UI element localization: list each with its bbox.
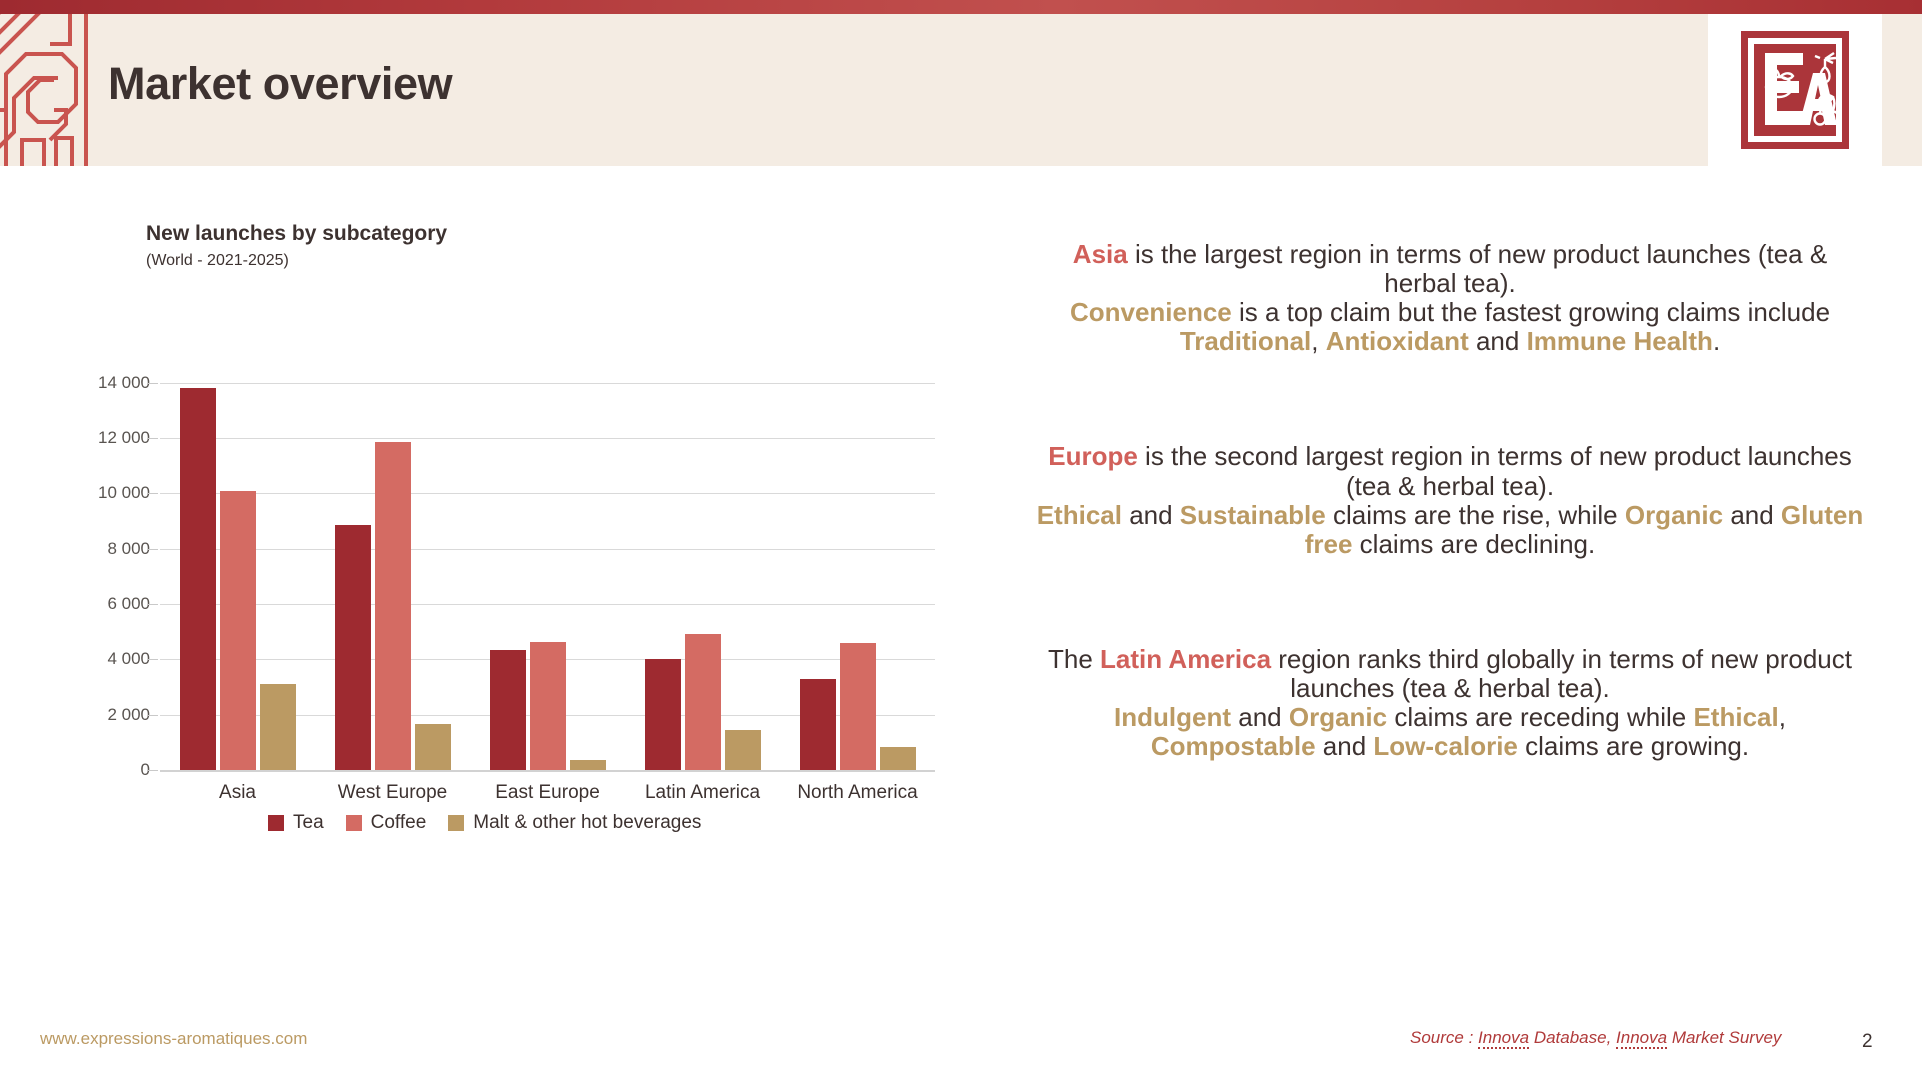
y-axis-tick-label: 6 000 xyxy=(60,594,150,614)
y-axis-tick xyxy=(148,493,158,494)
highlight-compostable: Compostable xyxy=(1151,731,1316,761)
page-title: Market overview xyxy=(108,58,452,110)
y-axis-tick xyxy=(148,604,158,605)
legend-label: Malt & other hot beverages xyxy=(473,812,701,834)
bar-latin-america-tea xyxy=(645,659,681,770)
insights-column: Asia is the largest region in terms of n… xyxy=(1035,240,1865,761)
insight-paragraph-europe: Europe is the second largest region in t… xyxy=(1035,442,1865,558)
legend-label: Coffee xyxy=(371,812,427,834)
text: claims are declining. xyxy=(1352,529,1595,559)
slide: Market overview xyxy=(0,0,1922,1081)
footer-source-note: Source : Innova Database, Innova Market … xyxy=(1410,1028,1781,1048)
y-axis-tick-label: 2 000 xyxy=(60,705,150,725)
highlight-convenience: Convenience xyxy=(1070,297,1232,327)
insight-paragraph-latin-america: The Latin America region ranks third glo… xyxy=(1035,645,1865,761)
y-axis-tick-label: 12 000 xyxy=(60,428,150,448)
bar-asia-tea xyxy=(180,388,216,770)
highlight-immune-health: Immune Health xyxy=(1527,326,1713,356)
y-axis-tick xyxy=(148,770,158,771)
company-logo-icon xyxy=(1741,31,1849,149)
x-axis-label-west-europe: West Europe xyxy=(338,782,447,804)
y-axis-tick xyxy=(148,383,158,384)
text: . xyxy=(1713,326,1720,356)
source-word-innova-1: Innova xyxy=(1478,1028,1529,1049)
x-axis-label-north-america: North America xyxy=(797,782,917,804)
bar-west-europe-coffee xyxy=(375,442,411,770)
insight-paragraph-asia: Asia is the largest region in terms of n… xyxy=(1035,240,1865,356)
text: claims are receding while xyxy=(1387,702,1693,732)
text: is the second largest region in terms of… xyxy=(1138,441,1852,500)
text: claims are growing. xyxy=(1518,731,1749,761)
highlight-latin-america: Latin America xyxy=(1100,644,1271,674)
highlight-low-calorie: Low-calorie xyxy=(1373,731,1517,761)
x-axis-label-asia: Asia xyxy=(219,782,256,804)
legend-swatch-icon xyxy=(268,815,284,831)
chart-x-axis-line xyxy=(160,770,935,772)
bar-north-america-malt xyxy=(880,747,916,770)
text: and xyxy=(1316,731,1374,761)
highlight-antioxidant: Antioxidant xyxy=(1326,326,1469,356)
bar-west-europe-malt xyxy=(415,724,451,770)
y-axis-tick xyxy=(148,549,158,550)
bar-east-europe-coffee xyxy=(530,642,566,770)
y-axis-tick-label: 14 000 xyxy=(60,373,150,393)
legend-swatch-icon xyxy=(346,815,362,831)
highlight-sustainable: Sustainable xyxy=(1180,500,1326,530)
text: and xyxy=(1122,500,1180,530)
x-axis-label-latin-america: Latin America xyxy=(645,782,760,804)
legend-label: Tea xyxy=(293,812,324,834)
y-axis-tick xyxy=(148,715,158,716)
page-number: 2 xyxy=(1862,1031,1873,1053)
bar-east-europe-malt xyxy=(570,760,606,771)
y-axis-tick xyxy=(148,659,158,660)
highlight-ethical: Ethical xyxy=(1037,500,1122,530)
y-axis-tick-label: 8 000 xyxy=(60,539,150,559)
top-accent-bar xyxy=(0,0,1922,14)
y-axis-tick-label: 10 000 xyxy=(60,483,150,503)
header-band-tail xyxy=(1882,14,1922,166)
text: is the largest region in terms of new pr… xyxy=(1128,239,1827,298)
text: , xyxy=(1779,702,1786,732)
bar-latin-america-malt xyxy=(725,730,761,770)
highlight-asia: Asia xyxy=(1073,239,1128,269)
highlight-organic: Organic xyxy=(1625,500,1723,530)
legend-item[interactable]: Coffee xyxy=(346,812,427,834)
y-axis-tick xyxy=(148,438,158,439)
bar-asia-malt xyxy=(260,684,296,770)
legend-item[interactable]: Tea xyxy=(268,812,324,834)
text: is a top claim but the fastest growing c… xyxy=(1232,297,1830,327)
text: and xyxy=(1723,500,1781,530)
bar-east-europe-tea xyxy=(490,650,526,770)
bar-latin-america-coffee xyxy=(685,634,721,770)
footer-website-link[interactable]: www.expressions-aromatiques.com xyxy=(40,1029,307,1049)
highlight-organic-2: Organic xyxy=(1289,702,1387,732)
bar-asia-coffee xyxy=(220,491,256,770)
highlight-traditional: Traditional xyxy=(1180,326,1311,356)
source-suffix: Market Survey xyxy=(1667,1028,1781,1047)
bar-west-europe-tea xyxy=(335,525,371,770)
chart-legend: TeaCoffeeMalt & other hot beverages xyxy=(268,812,701,834)
source-mid: Database, xyxy=(1529,1028,1616,1047)
source-word-innova-2: Innova xyxy=(1616,1028,1667,1049)
chart-title: New launches by subcategory xyxy=(146,222,447,246)
y-axis-tick-label: 0 xyxy=(60,760,150,780)
bar-north-america-tea xyxy=(800,679,836,770)
legend-swatch-icon xyxy=(448,815,464,831)
highlight-indulgent: Indulgent xyxy=(1114,702,1231,732)
text: The xyxy=(1048,644,1100,674)
bar-north-america-coffee xyxy=(840,643,876,770)
text: region ranks third globally in terms of … xyxy=(1271,644,1852,703)
chart-bars xyxy=(160,355,935,770)
x-axis-label-east-europe: East Europe xyxy=(495,782,600,804)
text: , xyxy=(1311,326,1325,356)
chart-subtitle: (World - 2021-2025) xyxy=(146,252,289,270)
text: and xyxy=(1469,326,1527,356)
highlight-europe: Europe xyxy=(1048,441,1138,471)
text: claims are the rise, while xyxy=(1326,500,1625,530)
highlight-ethical-2: Ethical xyxy=(1693,702,1778,732)
y-axis-tick-label: 4 000 xyxy=(60,649,150,669)
maze-pattern-decoration xyxy=(0,14,92,166)
text: and xyxy=(1231,702,1289,732)
source-prefix: Source : xyxy=(1410,1028,1478,1047)
legend-item[interactable]: Malt & other hot beverages xyxy=(448,812,701,834)
